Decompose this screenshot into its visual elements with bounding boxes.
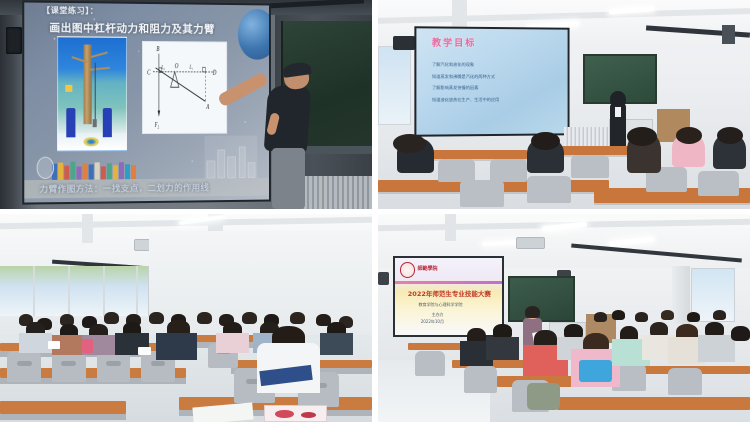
slide-bullet: 了解汽化和液化的现象 [432, 62, 559, 68]
projector-icon [516, 237, 546, 249]
svg-text:C: C [148, 69, 152, 77]
student-head [594, 312, 607, 322]
attendee-head [197, 312, 212, 324]
slide-bullet: 了解影响蒸发快慢的因素 [432, 86, 559, 92]
teacher-legs [272, 148, 305, 209]
planet-graphic [238, 9, 271, 60]
slide-bullet: 知道液化放热在生产、生活中的应用 [432, 97, 559, 103]
chair [527, 176, 572, 203]
student-body [486, 337, 519, 360]
chair [438, 159, 475, 182]
student-head [661, 310, 674, 320]
slide-subtitle-3: 2022年10月 [421, 319, 444, 325]
decorative-paper [264, 405, 327, 422]
tree-branch [89, 66, 109, 70]
teacher-lower-arm [266, 112, 281, 136]
chair [464, 366, 497, 393]
tree-branch [91, 52, 108, 59]
window-bank [0, 266, 149, 316]
paper-cup [138, 347, 151, 355]
paper-cup [48, 341, 59, 349]
illustration-figure-right [103, 108, 112, 137]
chair [415, 351, 445, 376]
flower-graphic [275, 410, 294, 418]
slide-bullet-list: 了解汽化和液化的现象 知道蒸发和沸腾是汽化的两种方式 了解影响蒸发快慢的因素 知… [432, 62, 559, 108]
svg-text:F₂: F₂ [155, 123, 160, 130]
svg-text:B: B [157, 46, 160, 54]
wall-speaker-icon [722, 25, 735, 44]
projector-screen: 【课堂练习】： 画出图中杠杆动力和阻力及其力臂 [22, 0, 271, 204]
student-head [612, 310, 625, 320]
presenter-hair [610, 91, 626, 107]
slide-footer-text: 力臂作图方法：一找支点，二划力的作用线 [40, 181, 210, 195]
chair [460, 180, 505, 207]
audience-head [717, 127, 743, 144]
green-backpack [527, 383, 560, 410]
attendee-body [320, 333, 353, 356]
logo-text: 師範學院 [417, 265, 437, 272]
student-head [731, 326, 750, 341]
chair [7, 351, 40, 382]
svg-text:O: O [175, 62, 179, 70]
water-bottle [82, 339, 93, 354]
desk [557, 397, 750, 409]
panel-physics-lesson[interactable]: 【课堂练习】： 画出图中杠杆动力和阻力及其力臂 [0, 0, 372, 209]
chair [668, 368, 701, 395]
attendee-body [216, 333, 249, 354]
ceiling-beam [82, 214, 93, 243]
slide-title-line2: 画出图中杠杆动力和阻力及其力臂 [50, 20, 215, 37]
ceiling-beam [445, 214, 456, 241]
well-rope [95, 63, 96, 122]
attendee-head [242, 312, 257, 324]
teacher-torso [264, 85, 312, 154]
attendee-head [104, 312, 119, 324]
slide-title: 教学目标 [432, 36, 476, 49]
window [378, 46, 411, 125]
panel-teacher-training[interactable]: 師範學院 2022年师范生专业技能大赛 教育学院与心理科学学院 主办方 2022… [378, 214, 750, 422]
attendee-head [290, 312, 305, 324]
chair [52, 351, 85, 382]
desk [430, 150, 527, 158]
lantern [65, 85, 72, 92]
student-head [635, 312, 648, 322]
wall-speaker-icon [6, 27, 23, 54]
projector-screen: 教学目标 了解汽化和液化的现象 知道蒸发和沸腾是汽化的两种方式 了解影响蒸发快慢… [415, 26, 570, 136]
university-logo [400, 262, 415, 277]
well-bucket [93, 119, 97, 127]
presenter-hair [525, 306, 540, 318]
backpack [579, 360, 612, 383]
attendee-head [149, 312, 164, 324]
audience-head [393, 134, 426, 153]
slide-subtitle-2: 主办方 [431, 312, 443, 318]
projector-icon [393, 36, 415, 51]
teacher-figure [253, 63, 327, 209]
attendee-body [156, 333, 197, 360]
svg-text:L₂: L₂ [161, 66, 165, 72]
slide-subtitle: 教育学院与心理科学学院 [419, 302, 463, 308]
svg-text:D: D [213, 69, 218, 77]
chair [490, 159, 527, 182]
chair [698, 171, 739, 196]
slide-color-band [395, 281, 503, 284]
slide-illustration [57, 37, 127, 152]
desk-row [0, 401, 126, 413]
student-head [713, 310, 726, 320]
svg-text:L₁: L₁ [190, 66, 194, 72]
slide-bookshelf-graphic [52, 161, 136, 180]
illustration-figure-left [66, 108, 75, 137]
chair [571, 155, 608, 178]
slide-bullet: 知道蒸发和沸腾是汽化的两种方式 [432, 74, 559, 80]
lever-force-diagram: B C O D A L₂ L₁ F₂ [143, 41, 228, 133]
projector-screen: 師範學院 2022年师范生专业技能大赛 教育学院与心理科学学院 主办方 2022… [393, 256, 505, 337]
photo-collage: 【课堂练习】： 画出图中杠杆动力和阻力及其力臂 [0, 0, 750, 422]
panel-lecture-hall[interactable] [0, 214, 372, 422]
flower-graphic [301, 412, 316, 418]
chair [97, 351, 130, 382]
slide-title-line1: 【课堂练习】： [42, 5, 99, 17]
svg-text:A: A [206, 104, 211, 112]
panel-teaching-objectives[interactable]: 教学目标 了解汽化和液化的现象 知道蒸发和沸腾是汽化的两种方式 了解影响蒸发快慢… [378, 0, 750, 209]
student-head [687, 312, 700, 322]
wall-speaker-icon [378, 272, 389, 284]
audience-head [676, 127, 702, 144]
slide-title: 2022年师范生专业技能大赛 [408, 288, 491, 298]
city-skyline-graphic [205, 135, 258, 178]
student-body [698, 335, 735, 362]
attendee-body [19, 333, 52, 354]
